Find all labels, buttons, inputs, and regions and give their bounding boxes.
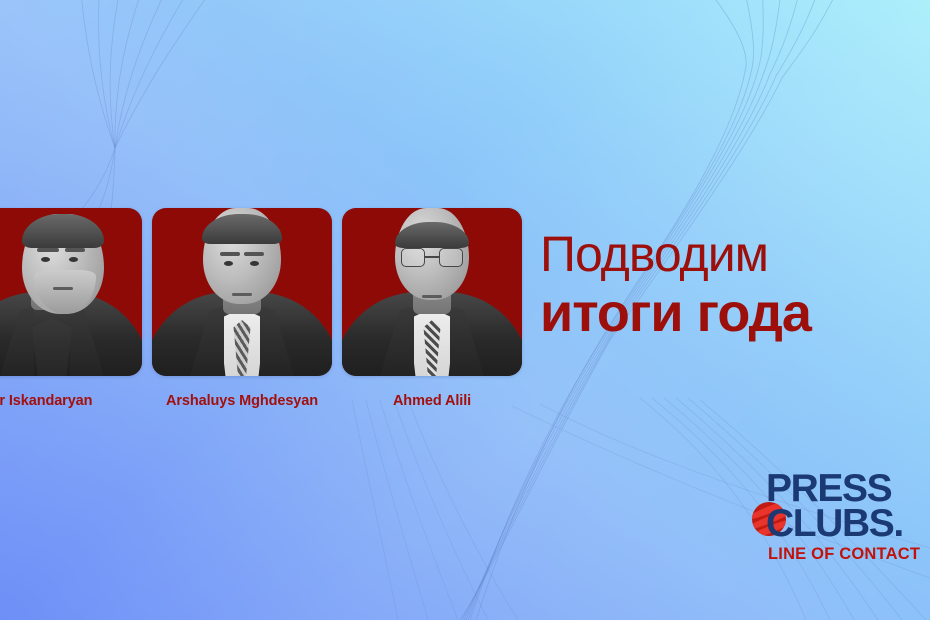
hair-shape bbox=[22, 214, 104, 248]
speaker-portrait bbox=[152, 208, 332, 376]
speaker-card: xander Iskandaryan bbox=[0, 208, 142, 409]
speaker-name: xander Iskandaryan bbox=[0, 393, 142, 409]
speaker-card: Ahmed Alili bbox=[342, 208, 522, 409]
speaker-portrait bbox=[342, 208, 522, 376]
promo-banner: xander Iskandaryan bbox=[0, 0, 930, 620]
portrait-figure bbox=[342, 208, 522, 376]
hair-shape bbox=[202, 214, 282, 244]
line-bundle-bottom-left bbox=[352, 400, 518, 620]
speaker-name: Ahmed Alili bbox=[342, 393, 522, 409]
portrait-figure bbox=[152, 208, 332, 376]
logo-word-clubs: CLUBS. bbox=[752, 505, 930, 542]
headline: Подводим итоги года bbox=[540, 228, 811, 342]
speaker-card-list: xander Iskandaryan bbox=[0, 208, 522, 409]
portrait-figure bbox=[0, 208, 142, 376]
headline-line-1: Подводим bbox=[540, 228, 811, 281]
press-clubs-logo: 7 PRESS CLUBS. LINE OF CONTACT bbox=[752, 470, 930, 564]
eyeglasses-icon bbox=[401, 248, 463, 268]
speaker-portrait bbox=[0, 208, 142, 376]
headline-line-2: итоги года bbox=[540, 285, 811, 342]
logo-tagline: LINE OF CONTACT bbox=[752, 545, 930, 564]
speaker-name: Arshaluys Mghdesyan bbox=[152, 393, 332, 409]
speaker-card: Arshaluys Mghdesyan bbox=[152, 208, 332, 409]
